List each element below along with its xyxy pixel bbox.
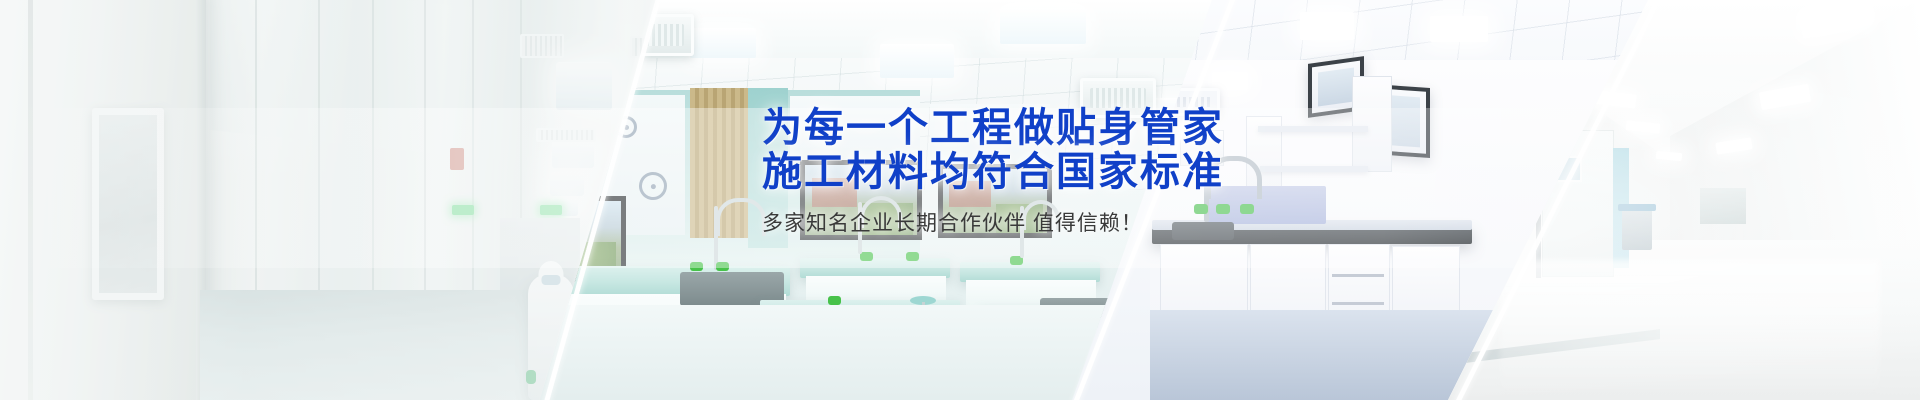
sub-headline: 多家知名企业长期合作伙伴 值得信赖！ [762, 210, 1382, 238]
lab-bench-top [960, 262, 1100, 282]
headline-line-2: 施工材料均符合国家标准 [762, 150, 1382, 194]
ceiling-panel-light [1430, 16, 1488, 42]
lab-faucet [716, 198, 766, 236]
drawer-pull [1332, 302, 1384, 305]
lab-faucet-stem [714, 206, 718, 270]
gas-tap-icon [860, 252, 873, 261]
gas-tap-icon [716, 262, 729, 271]
hero-banner: 为每一个工程做贴身管家 施工材料均符合国家标准 多家知名企业长期合作伙伴 值得信… [0, 0, 1920, 400]
ceiling-panel-light [1300, 12, 1354, 40]
gas-tap-icon [828, 296, 841, 305]
ceiling-panel-light [880, 44, 954, 78]
gas-tap-icon [906, 252, 919, 261]
lab-bench-top [800, 258, 950, 278]
ceiling-panel-light [690, 28, 756, 58]
ceiling-panel-light [1000, 8, 1086, 44]
banner-copy: 为每一个工程做贴身管家 施工材料均符合国家标准 多家知名企业长期合作伙伴 值得信… [762, 106, 1382, 238]
drawer-pull [1332, 274, 1384, 277]
gas-tap-icon [690, 262, 703, 271]
atom-graphic-icon [638, 171, 669, 202]
headline-line-1: 为每一个工程做贴身管家 [762, 106, 1382, 150]
